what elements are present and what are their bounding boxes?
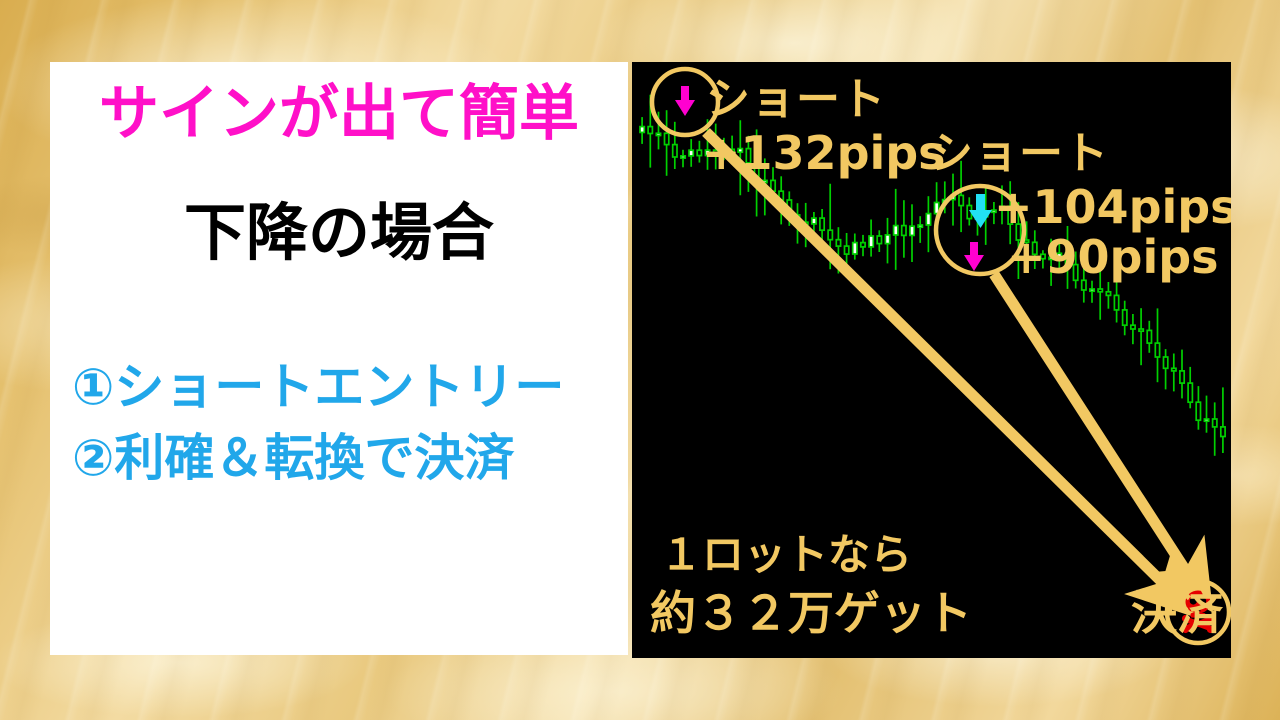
left-text-card: サインが出て簡単 下降の場合 ①ショートエントリー ②利確＆転換で決済 <box>50 62 628 655</box>
pips-label-1: +132pips <box>702 130 946 176</box>
step-item-1: ①ショートエントリー <box>72 352 618 423</box>
chart-panel: ショート +132pips ショート +104pips +90pips １ロット… <box>632 62 1231 658</box>
magenta-down-arrow-2 <box>964 242 984 271</box>
pips-label-2: +104pips <box>994 184 1231 230</box>
lot-note-line2: 約３２万ゲット <box>650 590 972 636</box>
short-label-2: ショート <box>929 132 1109 176</box>
cyan-down-arrow <box>969 194 992 228</box>
lot-note-line1: １ロットなら <box>660 534 912 576</box>
pips-label-3: +90pips <box>1007 234 1219 280</box>
close-label: 決済 <box>1131 590 1223 636</box>
steps-list: ①ショートエントリー ②利確＆転換で決済 <box>72 352 618 494</box>
short-label-1: ショート <box>706 78 886 122</box>
headline-text: サインが出て簡単 <box>50 84 628 144</box>
trade-arrow-2 <box>994 274 1188 574</box>
subheadline-text: 下降の場合 <box>50 202 628 264</box>
magenta-down-arrow <box>675 86 695 116</box>
step-item-2: ②利確＆転換で決済 <box>72 423 618 494</box>
